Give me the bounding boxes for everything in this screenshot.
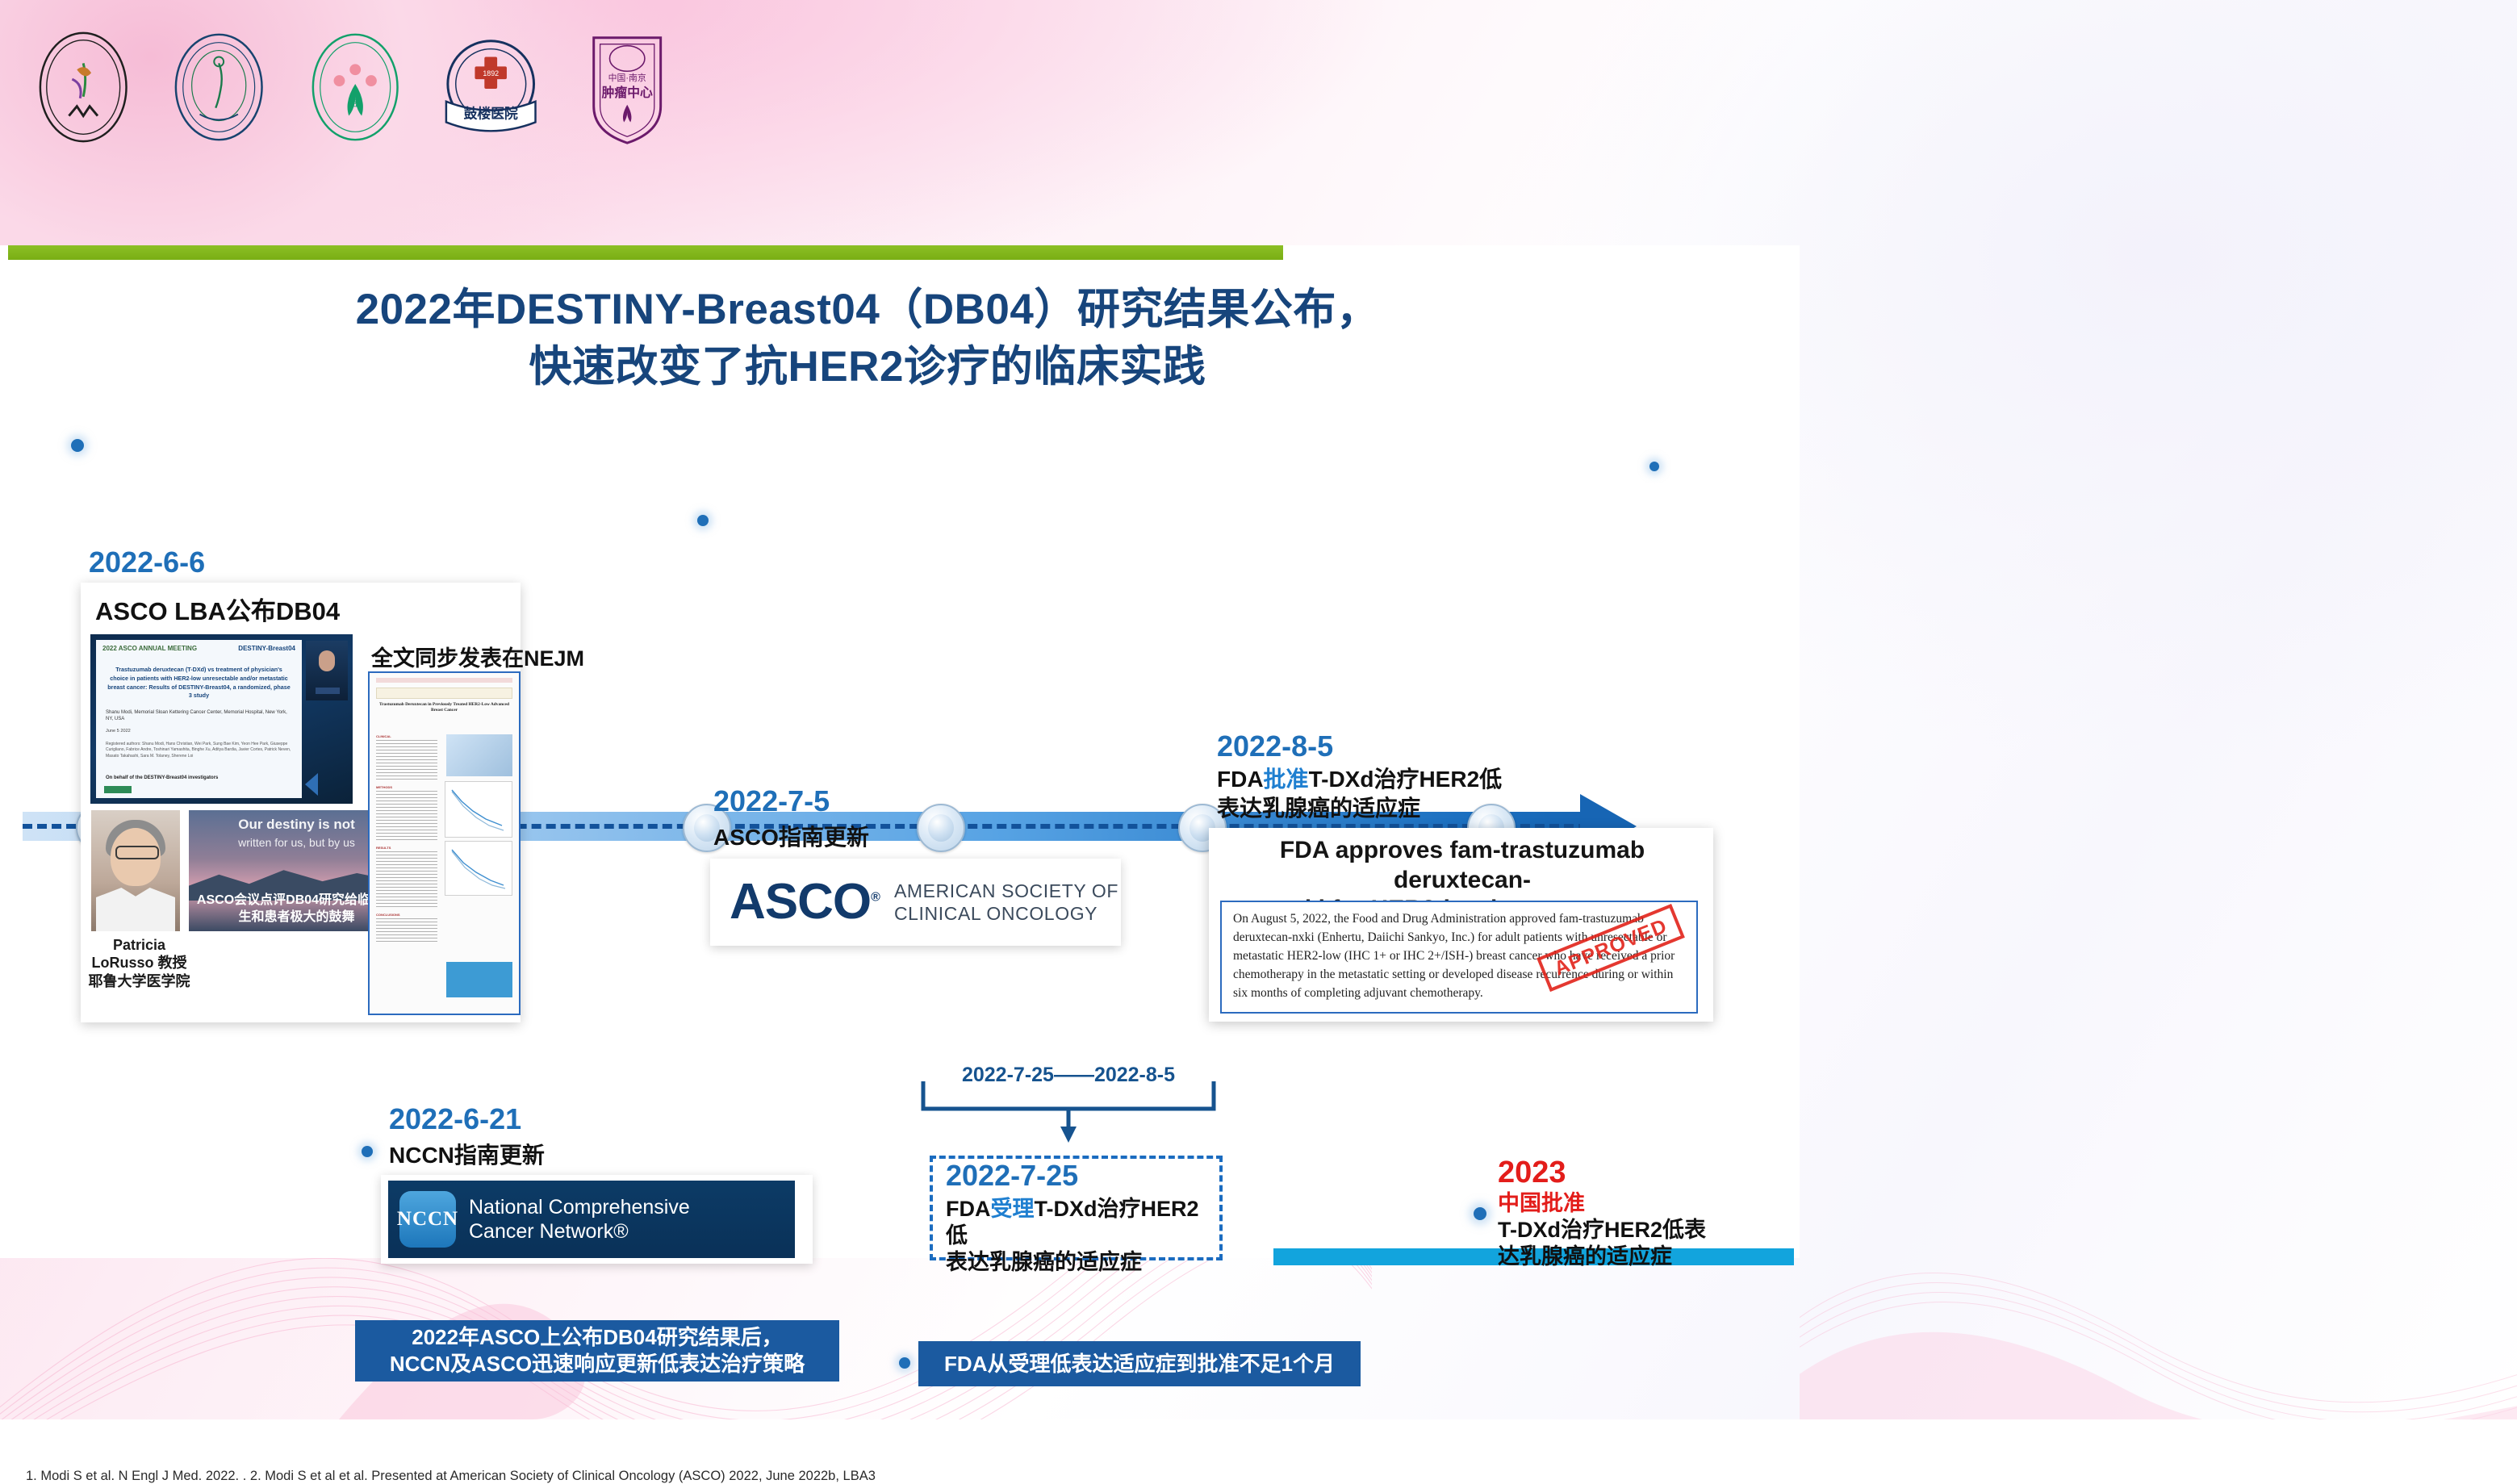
asco-registered-mark: ® — [871, 890, 880, 904]
fda-news-headline-line1: FDA approves fam-trastuzumab deruxtecan- — [1280, 837, 1645, 893]
china-approval-sub: T-DXd治疗HER2低表 达乳腺癌的适应症 — [1498, 1217, 1764, 1270]
bracket-arrow-icon — [918, 1081, 1219, 1144]
slide-top-accent-bar — [8, 245, 1283, 260]
fda-approval-headline-a: FDA — [1217, 767, 1264, 792]
fda-approval-headline-highlight: 批准 — [1264, 767, 1309, 792]
asco-slide-date: June 5 2022 — [106, 729, 131, 734]
accent-dot — [71, 439, 84, 452]
nanjing-cancer-center-logo: 中国·南京肿瘤中心 — [576, 27, 678, 147]
lorusso-name-line1: Patricia — [81, 936, 198, 954]
fda-filing-bracket: 2022-7-25——2022-8-5 — [918, 1064, 1219, 1144]
lorusso-affiliation: 耶鲁大学医学院 — [81, 972, 198, 990]
fda-approval-headline: FDA批准T-DXd治疗HER2低 表达乳腺癌的适应症 — [1217, 765, 1782, 824]
slide-title-line2: 快速改变了抗HER2诊疗的临床实践 — [0, 338, 1735, 395]
nejm-article-thumbnail: Trastuzumab Deruxtecan in Previously Tre… — [368, 671, 521, 1015]
asco-badge-left: 2022 ASCO ANNUAL MEETING — [102, 645, 197, 652]
nejm-label: 全文同步发表在NEJM — [371, 641, 584, 672]
summary-banner-line2: NCCN及ASCO迅速响应更新低表达治疗策略 — [390, 1351, 805, 1377]
nccn-date: 2022-6-21 — [389, 1102, 792, 1136]
svg-text:鼓楼医院: 鼓楼医院 — [464, 106, 518, 122]
right-panel: 余慧萍 教授 南京大学医学院附属 鼓楼医院 — [1800, 0, 2517, 1419]
slide-title: 2022年DESTINY-Breast04（DB04）研究结果公布， 快速改变了… — [0, 281, 1735, 395]
china-approval-label: 中国批准 — [1498, 1190, 1764, 1216]
asco-lba-date-block: 2022-6-6 — [89, 546, 533, 579]
fda-filing-headline-highlight: 受理 — [991, 1197, 1035, 1221]
nccn-logo: NCCN National Comprehensive Cancer Netwo… — [388, 1181, 795, 1258]
asco-slide-title: Trastuzumab deruxtecan (T-DXd) vs treatm… — [106, 666, 292, 700]
asco-slide-body: 2022 ASCO ANNUAL MEETING DESTINY-Breast0… — [96, 640, 302, 798]
china-approval-sub-line1: T-DXd治疗HER2低表 — [1498, 1218, 1706, 1242]
jiangsu-integrative-medicine-association-logo — [168, 27, 270, 147]
nccn-logo-line2: Cancer Network® — [469, 1219, 690, 1244]
nanjing-jinling-cancer-institute-logo: 癌 — [304, 27, 406, 147]
nccn-block: 2022-6-21 NCCN指南更新 — [389, 1102, 792, 1170]
accent-dot — [697, 515, 709, 526]
lorusso-name-line2: LoRusso 教授 — [81, 954, 198, 972]
fda-approval-date: 2022-8-5 — [1217, 729, 1782, 763]
nejm-article-title: Trastuzumab Deruxtecan in Previously Tre… — [378, 702, 511, 714]
fda-filing-date: 2022-7-25 — [946, 1159, 1078, 1193]
destiny-caption-line2: 生和患者极大的鼓舞 — [238, 910, 354, 924]
asco-guideline-date: 2022-7-5 — [713, 784, 1085, 818]
asco-lba-date: 2022-6-6 — [89, 546, 533, 579]
destiny-caption-line1: ASCO会议点评DB04研究给临床医 — [197, 893, 396, 907]
china-approval-block: 2023 中国批准 T-DXd治疗HER2低表 达乳腺癌的适应症 — [1498, 1156, 1764, 1270]
organization-logo-strip: 癌 1892鼓楼医院 中国·南京肿瘤中心 — [32, 15, 678, 160]
asco-logo-card: ASCO® AMERICAN SOCIETY OF CLINICAL ONCOL… — [710, 859, 1121, 946]
jiangsu-geriatrics-society-logo — [32, 27, 134, 147]
patricia-lorusso-portrait — [91, 810, 180, 931]
nccn-headline: NCCN指南更新 — [389, 1138, 792, 1170]
asco-desc-line1: AMERICAN SOCIETY OF — [894, 880, 1118, 902]
fda-approval-headline-line2: 表达乳腺癌的适应症 — [1217, 796, 1420, 821]
accent-dot — [362, 1146, 373, 1157]
asco-desc-line2: CLINICAL ONCOLOGY — [894, 902, 1118, 925]
asco-slide-footer-mark — [104, 786, 132, 793]
asco-guideline-block: 2022-7-5 ASCO指南更新 — [713, 784, 1085, 852]
patricia-lorusso-caption: Patricia LoRusso 教授 耶鲁大学医学院 — [81, 936, 198, 990]
fda-filing-headline: FDA受理T-DXd治疗HER2低 表达乳腺癌的适应症 — [946, 1196, 1212, 1276]
asco-logo-description: AMERICAN SOCIETY OF CLINICAL ONCOLOGY — [894, 880, 1118, 925]
summary-banner-fda: FDA从受理低表达适应症到批准不足1个月 — [918, 1341, 1361, 1386]
asco-badge-right: DESTINY-Breast04 — [238, 645, 295, 652]
china-approval-year: 2023 — [1498, 1156, 1764, 1190]
nccn-logo-line1: National Comprehensive — [469, 1195, 690, 1219]
slide-title-line1: 2022年DESTINY-Breast04（DB04）研究结果公布， — [356, 286, 1380, 333]
gulou-hospital-logo: 1892鼓楼医院 — [440, 27, 541, 147]
summary-banner-line1: 2022年ASCO上公布DB04研究结果后， — [390, 1324, 805, 1351]
asco-wordmark: ASCO® — [730, 877, 880, 927]
asco-guideline-headline: ASCO指南更新 — [713, 820, 1085, 852]
fda-filing-headline-line2: 表达乳腺癌的适应症 — [946, 1250, 1142, 1274]
slide-footnote: 1. Modi S et al. N Engl J Med. 2022. . 2… — [26, 1469, 876, 1484]
asco-wordmark-text: ASCO — [730, 874, 871, 930]
svg-text:1892: 1892 — [483, 69, 500, 77]
svg-text:肿瘤中心: 肿瘤中心 — [601, 85, 652, 100]
svg-text:中国·南京: 中国·南京 — [608, 72, 646, 83]
asco-slide-authors: Registered authors: Shanu Modi, Hans Chr… — [106, 742, 292, 759]
fda-approval-block: 2022-8-5 FDA批准T-DXd治疗HER2低 表达乳腺癌的适应症 — [1217, 729, 1782, 824]
china-approval-sub-line2: 达乳腺癌的适应症 — [1498, 1244, 1672, 1269]
asco-lba-headline: ASCO LBA公布DB04 — [95, 591, 340, 627]
nccn-badge: NCCN — [399, 1191, 456, 1248]
accent-dot — [899, 1357, 910, 1369]
accent-dot — [1649, 462, 1659, 471]
accent-dot — [1474, 1207, 1486, 1220]
nccn-logo-text: National Comprehensive Cancer Network® — [469, 1195, 690, 1244]
presentation-slide: 2022年DESTINY-Breast04（DB04）研究结果公布， 快速改变了… — [0, 245, 1800, 1258]
prev-arrow-icon — [305, 773, 318, 796]
asco-slide-onbehalf: On behalf of the DESTINY-Breast04 invest… — [106, 775, 218, 780]
asco-presentation-thumbnail: 2022 ASCO ANNUAL MEETING DESTINY-Breast0… — [90, 634, 353, 804]
asco-speaker-thumb — [306, 641, 348, 700]
summary-banner-nccn-asco: 2022年ASCO上公布DB04研究结果后， NCCN及ASCO迅速响应更新低表… — [355, 1320, 839, 1382]
fda-filing-headline-a: FDA — [946, 1197, 991, 1221]
fda-approval-headline-b: T-DXd治疗HER2低 — [1309, 767, 1503, 792]
asco-slide-presenter: Shanu Modi, Memorial Sloan Kettering Can… — [106, 709, 292, 723]
svg-text:癌: 癌 — [350, 97, 361, 109]
